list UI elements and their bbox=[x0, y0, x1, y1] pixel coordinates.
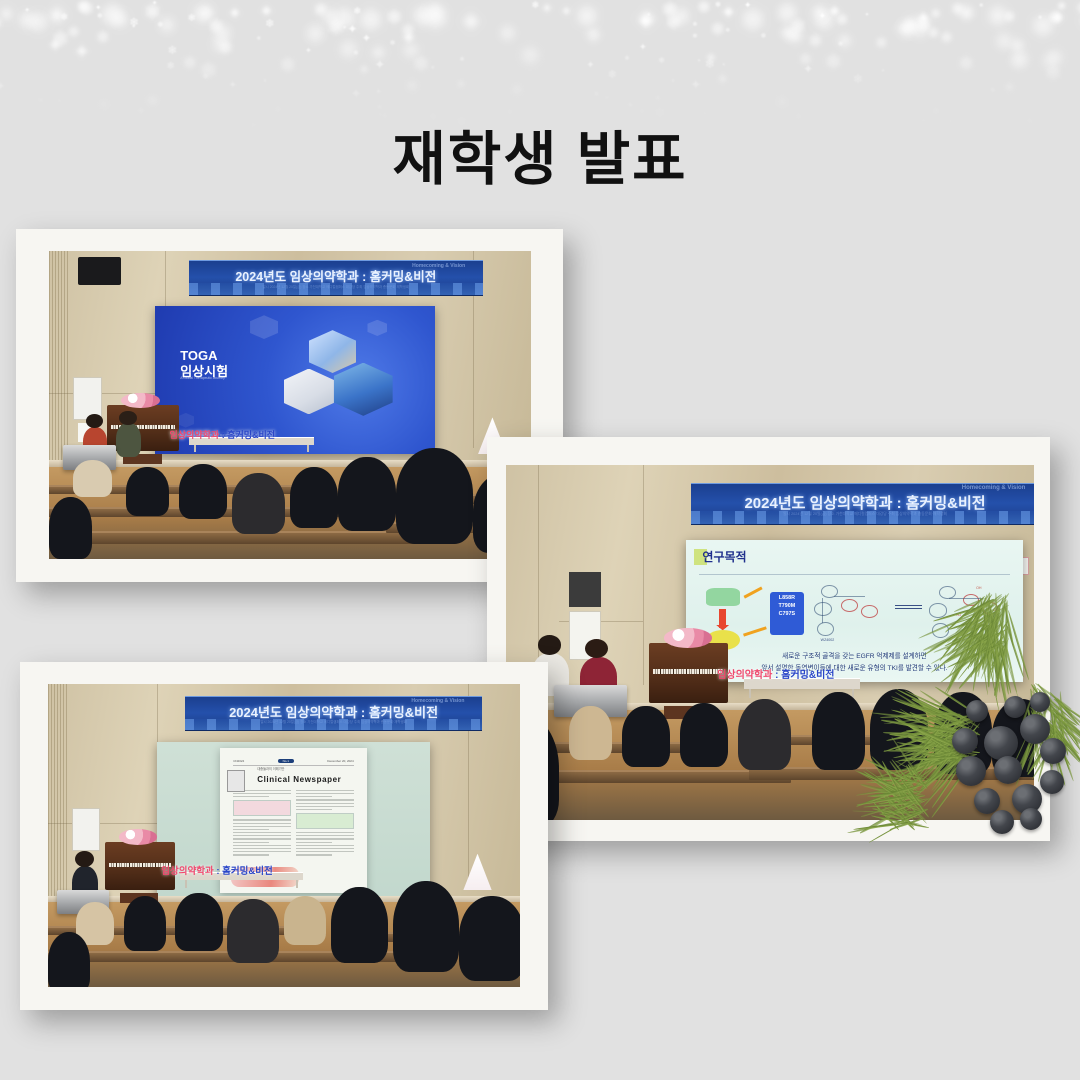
berry-icon bbox=[984, 726, 1018, 760]
snowflake-icon: ❄ bbox=[930, 7, 941, 20]
snowflake-icon: ❄ bbox=[304, 21, 326, 48]
snowflake-icon: ❄ bbox=[97, 14, 103, 21]
snowflake-icon: ❄ bbox=[158, 15, 177, 37]
photo-card-toga[interactable]: Homecoming & Vision 2024년도 임상의약학과 : 홈커밍&… bbox=[16, 229, 563, 582]
snowflake-icon: ❄ bbox=[321, 6, 340, 29]
snowflake-icon: ✦ bbox=[259, 3, 274, 20]
snowflake-icon: ❄ bbox=[608, 70, 617, 81]
snowflake-icon: ✦ bbox=[583, 24, 604, 49]
berry-icon bbox=[966, 700, 988, 722]
snowflake-icon: ✦ bbox=[881, 69, 885, 73]
snowflake-icon: ✦ bbox=[744, 1, 752, 10]
event-banner: Homecoming & Vision 2024년도 임상의약학과 : 홈커밍&… bbox=[691, 483, 1034, 526]
flower-arrangement bbox=[121, 393, 160, 408]
snowflake-icon: ✦ bbox=[459, 9, 483, 38]
snowflake-icon: ❄ bbox=[511, 84, 523, 99]
photo-image-toga: Homecoming & Vision 2024년도 임상의약학과 : 홈커밍&… bbox=[49, 251, 531, 559]
snowflake-icon: ✦ bbox=[865, 13, 869, 18]
snowflake-icon: ✦ bbox=[58, 99, 61, 103]
snowflake-icon: ❄ bbox=[647, 14, 651, 19]
snowflake-icon: ❄ bbox=[498, 23, 517, 45]
snowflake-icon: ❄ bbox=[958, 55, 974, 74]
pine-branch-decoration bbox=[844, 588, 1080, 908]
snowflake-icon: ✦ bbox=[0, 4, 16, 26]
snowflake-icon: ❄ bbox=[799, 52, 813, 68]
snowflake-icon: ✦ bbox=[351, 88, 362, 101]
snowflake-icon: ❄ bbox=[907, 14, 932, 44]
snowflake-icon: ❄ bbox=[916, 16, 932, 35]
snowflake-icon: ✦ bbox=[955, 0, 978, 28]
snowflake-icon: ✦ bbox=[400, 29, 418, 50]
snowflake-icon: ❄ bbox=[0, 15, 3, 32]
snowflake-icon: ❄ bbox=[990, 89, 995, 95]
snowflake-icon: ❄ bbox=[327, 16, 345, 38]
presenter-head bbox=[538, 635, 561, 654]
snowflake-icon: ✦ bbox=[690, 79, 701, 92]
berry-icon bbox=[1004, 696, 1026, 718]
snowflake-icon: ✦ bbox=[586, 61, 594, 71]
snowflake-icon: ❄ bbox=[76, 0, 89, 16]
photo-watermark: 임상의약학과 : 홈커밍&비전 bbox=[170, 428, 276, 441]
snowflake-icon: ❄ bbox=[358, 5, 384, 36]
photo-watermark: 임상의약학과 : 홈커밍&비전 bbox=[717, 666, 834, 681]
snowflake-icon: ✦ bbox=[834, 30, 855, 55]
snowflake-icon: ❄ bbox=[655, 96, 660, 102]
snowflake-icon: ❄ bbox=[263, 79, 266, 83]
snowflake-icon: ✦ bbox=[95, 4, 101, 12]
snowflake-icon: ❄ bbox=[1010, 49, 1030, 73]
snowflake-icon: ❄ bbox=[838, 42, 843, 49]
snowflake-icon: ❄ bbox=[1030, 11, 1056, 42]
snowflake-icon: ❄ bbox=[775, 0, 799, 29]
snowflake-icon: ❄ bbox=[313, 1, 328, 19]
snowflake-icon: ✦ bbox=[1007, 33, 1029, 59]
snowflake-icon: ✦ bbox=[376, 103, 383, 111]
projector-icon bbox=[78, 257, 121, 285]
snowflake-icon: ❄ bbox=[951, 1, 966, 18]
snowflake-icon: ✦ bbox=[715, 71, 729, 88]
slide-heading: 연구목적 bbox=[702, 548, 746, 565]
snowflake-icon: ❄ bbox=[625, 56, 630, 62]
snowflake-icon: ❄ bbox=[531, 1, 539, 11]
snowflake-icon: ✦ bbox=[131, 25, 136, 31]
snowflake-icon: ❄ bbox=[110, 9, 129, 32]
snowflake-icon: ✦ bbox=[152, 1, 157, 7]
snowflake-icon: ❄ bbox=[1045, 64, 1062, 84]
issue-badge: No.1 bbox=[278, 759, 294, 763]
snowflake-icon: ❄ bbox=[1041, 51, 1060, 74]
presenter bbox=[116, 423, 140, 457]
snowflake-icon: ❄ bbox=[202, 73, 208, 81]
banner-english: Homecoming & Vision bbox=[962, 485, 1026, 491]
page-title: 재학생 발표 bbox=[0, 112, 1080, 196]
snowflake-icon: ❄ bbox=[760, 34, 766, 41]
snowflake-icon: ❄ bbox=[390, 41, 396, 48]
snowflake-icon: ❄ bbox=[78, 0, 94, 19]
snowflake-icon: ❄ bbox=[789, 17, 806, 38]
snowflake-icon: ✦ bbox=[915, 10, 932, 30]
snowflake-icon: ❄ bbox=[812, 7, 835, 35]
snowflake-icon: ✦ bbox=[704, 51, 718, 68]
snowflake-icon: ✦ bbox=[358, 63, 371, 78]
snowflake-icon: ❄ bbox=[353, 51, 359, 58]
issue-left: CN2024 bbox=[233, 759, 244, 763]
snowflake-icon: ❄ bbox=[705, 59, 715, 71]
snowflake-icon: ❄ bbox=[148, 95, 160, 109]
berry-icon bbox=[994, 756, 1022, 784]
snowflake-icon: ✦ bbox=[809, 2, 830, 27]
snowflake-icon: ❄ bbox=[665, 13, 682, 33]
snowflake-icon: ❄ bbox=[875, 36, 888, 52]
berry-icon bbox=[990, 810, 1014, 834]
snowflake-icon: ❄ bbox=[257, 37, 262, 43]
snowflake-icon: ❄ bbox=[725, 28, 730, 34]
snowflake-icon: ❄ bbox=[979, 4, 984, 10]
snowflake-icon: ✦ bbox=[561, 5, 573, 19]
snowflake-icon: ❄ bbox=[401, 40, 420, 63]
photo-image-newspaper: Homecoming & Vision 2024년도 임상의약학과 : 홈커밍&… bbox=[48, 684, 520, 987]
snowflake-icon: ❄ bbox=[1076, 1, 1080, 18]
slide-caption: A Global Therapeutic Journey bbox=[180, 376, 225, 380]
snowflake-icon: ✦ bbox=[697, 59, 701, 63]
snowflake-icon: ❄ bbox=[129, 18, 138, 29]
banner-korean: 2024년도 임상의약학과 : 홈커밍&비전 bbox=[744, 492, 985, 513]
berry-icon bbox=[1030, 692, 1050, 712]
snowflake-icon: ❄ bbox=[1038, 17, 1042, 22]
snowflake-icon: ✦ bbox=[455, 78, 467, 92]
snowflake-icon: ❄ bbox=[386, 9, 403, 29]
presenter-head bbox=[119, 411, 136, 425]
snowflake-icon: ❄ bbox=[459, 58, 464, 64]
snowflake-icon: ❄ bbox=[994, 31, 1015, 56]
snowflake-icon: ✦ bbox=[627, 101, 634, 109]
snowflake-icon: ❄ bbox=[422, 2, 449, 34]
snowflake-icon: ❄ bbox=[658, 57, 665, 65]
snowflake-icon: ✦ bbox=[305, 47, 312, 55]
snowflake-icon: ✦ bbox=[45, 2, 70, 32]
snowflake-icon: ❄ bbox=[692, 22, 697, 28]
snowflake-icon: ✦ bbox=[777, 20, 801, 48]
snowflake-icon: ❄ bbox=[940, 31, 953, 47]
berry-icon bbox=[952, 728, 978, 754]
snowflake-icon: ❄ bbox=[401, 23, 415, 40]
snowflake-icon: ❄ bbox=[710, 21, 725, 38]
slide-title: TOGA 임상시험 bbox=[180, 348, 228, 380]
snowflake-icon: ❄ bbox=[825, 52, 843, 73]
snowflake-icon: ❄ bbox=[715, 1, 721, 9]
snowflake-icon: ✦ bbox=[375, 88, 381, 96]
snowflake-icon: ❄ bbox=[100, 0, 126, 31]
snowflake-icon: ✦ bbox=[374, 59, 385, 72]
snowflake-icon: ❄ bbox=[671, 79, 674, 83]
snowflake-icon: ❄ bbox=[411, 3, 435, 32]
snowflake-icon: ❄ bbox=[208, 18, 224, 38]
snowflake-icon: ❄ bbox=[353, 7, 361, 17]
snowflake-icon: ❄ bbox=[187, 14, 196, 24]
compound-label: WZ4002 bbox=[821, 638, 835, 642]
photo-watermark: 임상의약학과 : 홈커밍&비전 bbox=[161, 863, 272, 877]
snowflake-icon: ❄ bbox=[67, 25, 80, 40]
snowflake-icon: ❄ bbox=[182, 55, 197, 73]
photo-card-clinical-newspaper[interactable]: Homecoming & Vision 2024년도 임상의약학과 : 홈커밍&… bbox=[20, 662, 548, 1010]
snowflake-icon: ❄ bbox=[412, 55, 429, 76]
issue-date: December 20, 2024 bbox=[327, 759, 353, 763]
snowflake-icon: ❄ bbox=[775, 95, 788, 111]
berry-icon bbox=[1040, 738, 1066, 764]
snowflake-icon: ✦ bbox=[368, 42, 389, 67]
snowflake-icon: ❄ bbox=[96, 30, 110, 47]
snowflake-icon: ✦ bbox=[897, 11, 924, 43]
snowflake-icon: ❄ bbox=[337, 37, 359, 63]
snowflake-icon: ✦ bbox=[637, 11, 655, 33]
snowflake-icon: ✦ bbox=[1056, 0, 1068, 14]
snowflake-icon: ❄ bbox=[52, 29, 70, 50]
snowflake-icon: ❄ bbox=[199, 61, 217, 82]
snowflake-icon: ❄ bbox=[405, 79, 419, 95]
snowflake-icon: ❄ bbox=[17, 10, 37, 34]
snowflake-icon: ❄ bbox=[928, 27, 940, 42]
snowflake-icon: ❄ bbox=[332, 5, 357, 35]
newspaper-logo bbox=[227, 770, 245, 792]
snowflake-icon: ❄ bbox=[166, 62, 175, 72]
snowflake-icon: ✦ bbox=[803, 63, 813, 75]
event-banner: Homecoming & Vision 2024년도 임상의약학과 : 홈커밍&… bbox=[189, 260, 483, 295]
berry-icon bbox=[1040, 770, 1064, 794]
snowflake-icon: ❄ bbox=[671, 6, 691, 30]
snowflake-icon: ✦ bbox=[541, 2, 553, 16]
snowflake-icon: ❄ bbox=[211, 34, 231, 58]
snowflake-icon: ❄ bbox=[692, 34, 697, 40]
snowflake-icon: ✦ bbox=[783, 23, 807, 52]
snowflake-icon: ✦ bbox=[722, 64, 726, 69]
snowflake-icon: ✦ bbox=[0, 82, 5, 93]
snowflake-icon: ✦ bbox=[347, 24, 357, 36]
piano bbox=[649, 643, 728, 703]
snowflake-icon: ❄ bbox=[808, 33, 823, 51]
snowflake-icon: ❄ bbox=[835, 12, 849, 28]
flower-arrangement bbox=[119, 829, 157, 844]
berry-icon bbox=[1020, 808, 1042, 830]
snowflake-icon: ❄ bbox=[279, 56, 296, 76]
mutation-badge: L858R T790M C797S bbox=[770, 592, 804, 635]
snowflake-icon: ✦ bbox=[1049, 9, 1066, 29]
snowflake-icon: ❄ bbox=[605, 96, 608, 100]
snowflake-icon: ✦ bbox=[343, 26, 347, 31]
snowflake-icon: ❄ bbox=[218, 40, 233, 58]
snowflake-icon: ✦ bbox=[229, 81, 238, 91]
snowflake-icon: ❄ bbox=[574, 3, 599, 33]
snowflake-icon: ❄ bbox=[1003, 10, 1016, 26]
snowflake-icon: ❄ bbox=[740, 4, 767, 36]
snowflake-icon: ✦ bbox=[73, 41, 91, 63]
snowflake-icon: ✦ bbox=[24, 8, 29, 15]
snowflake-icon: ❄ bbox=[212, 22, 233, 47]
snowflake-icon: ❄ bbox=[1009, 51, 1028, 73]
berry-icon bbox=[956, 756, 986, 786]
snowflake-icon: ✦ bbox=[893, 16, 918, 46]
snowflake-icon: ✦ bbox=[639, 43, 647, 53]
snowflake-icon: ❄ bbox=[519, 45, 541, 71]
snowflake-icon: ❄ bbox=[60, 13, 68, 23]
snowflake-icon: ✦ bbox=[827, 4, 843, 23]
snowflake-icon: ❄ bbox=[1046, 47, 1065, 70]
snowflake-icon: ✦ bbox=[47, 37, 64, 57]
snowflake-icon: ❄ bbox=[986, 2, 1010, 30]
snowflake-icon: ❄ bbox=[145, 95, 157, 110]
snowflake-icon: ✦ bbox=[197, 2, 216, 25]
snowflake-icon: ❄ bbox=[1047, 9, 1062, 27]
presenter-head bbox=[75, 851, 94, 867]
event-banner: Homecoming & Vision 2024년도 임상의약학과 : 홈커밍&… bbox=[185, 696, 482, 731]
snowflake-icon: ✦ bbox=[228, 5, 242, 22]
snowflake-icon: ❄ bbox=[594, 92, 599, 98]
snowflake-icon: ❄ bbox=[157, 21, 163, 28]
snowflake-icon: ❄ bbox=[431, 66, 435, 70]
snowflake-icon: ❄ bbox=[27, 9, 50, 36]
snowflake-icon: ✦ bbox=[362, 34, 371, 45]
flower-arrangement bbox=[664, 628, 712, 648]
snowflake-icon: ❄ bbox=[697, 0, 711, 17]
masthead-kr: 대중들과의 이해기반 bbox=[257, 766, 353, 771]
snowflake-icon: ✦ bbox=[634, 5, 660, 36]
masthead-en: Clinical Newspaper bbox=[257, 775, 353, 784]
snowflake-icon: ✦ bbox=[720, 4, 736, 24]
snowflake-icon: ❄ bbox=[192, 3, 213, 29]
snowflake-icon: ✦ bbox=[818, 12, 826, 21]
snowflake-icon: ❄ bbox=[853, 73, 863, 85]
snowflake-icon: ❄ bbox=[265, 19, 274, 30]
snowflake-icon: ❄ bbox=[661, 1, 679, 22]
snowflake-icon: ❄ bbox=[38, 99, 42, 104]
snowflake-icon: ✦ bbox=[1003, 81, 1016, 97]
snowflake-icon: ❄ bbox=[167, 46, 177, 58]
snowflake-icon: ❄ bbox=[144, 2, 162, 23]
snowflake-icon: ❄ bbox=[425, 1, 444, 24]
